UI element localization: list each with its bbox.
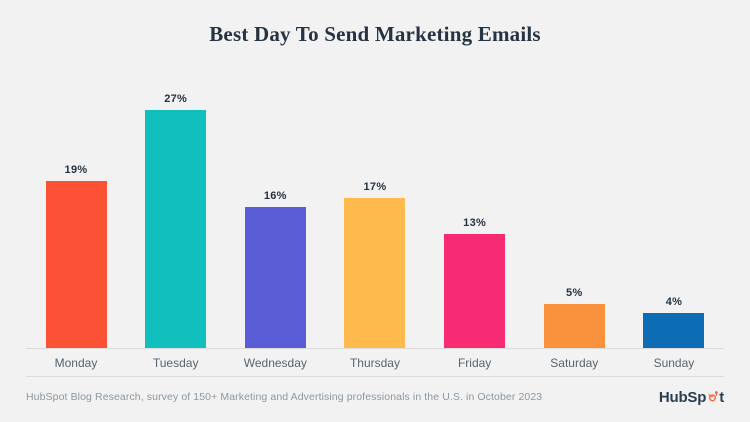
bar-value-label: 4%: [666, 296, 683, 308]
bar-sunday[interactable]: [643, 313, 704, 348]
bar-group: 19% 27% 16% 17% 13% 5%: [26, 62, 724, 348]
bar-value-label: 13%: [463, 217, 486, 229]
chart-plot-area: 19% 27% 16% 17% 13% 5%: [26, 62, 724, 348]
logo-text-suffix: t: [719, 389, 724, 406]
category-label-monday: Monday: [28, 352, 124, 376]
bar-monday[interactable]: [46, 181, 107, 348]
bar-friday[interactable]: [444, 234, 505, 348]
bar-slot-saturday: 5%: [526, 62, 622, 348]
bar-thursday[interactable]: [344, 198, 405, 348]
chart-title: Best Day To Send Marketing Emails: [0, 22, 750, 47]
bar-wednesday[interactable]: [245, 207, 306, 348]
source-note: HubSpot Blog Research, survey of 150+ Ma…: [26, 391, 542, 403]
bar-slot-tuesday: 27%: [128, 62, 224, 348]
bar-slot-friday: 13%: [427, 62, 523, 348]
category-label-friday: Friday: [427, 352, 523, 376]
chart-infographic: Best Day To Send Marketing Emails 19% 27…: [0, 0, 750, 422]
footer: HubSpot Blog Research, survey of 150+ Ma…: [26, 386, 724, 408]
category-label-thursday: Thursday: [327, 352, 423, 376]
category-label-tuesday: Tuesday: [128, 352, 224, 376]
bar-slot-thursday: 17%: [327, 62, 423, 348]
category-label-sunday: Sunday: [626, 352, 722, 376]
bar-value-label: 16%: [264, 190, 287, 202]
hubspot-sprocket-icon: [706, 390, 719, 403]
bar-value-label: 27%: [164, 93, 187, 105]
axis-baseline: [26, 348, 724, 349]
bar-slot-sunday: 4%: [626, 62, 722, 348]
bar-value-label: 17%: [364, 181, 387, 193]
category-label-wednesday: Wednesday: [227, 352, 323, 376]
category-label-saturday: Saturday: [526, 352, 622, 376]
category-axis-labels: Monday Tuesday Wednesday Thursday Friday…: [26, 352, 724, 376]
bar-slot-wednesday: 16%: [227, 62, 323, 348]
footer-divider: [26, 376, 724, 377]
hubspot-logo[interactable]: HubSp t: [659, 389, 724, 406]
bar-saturday[interactable]: [544, 304, 605, 348]
bar-slot-monday: 19%: [28, 62, 124, 348]
bar-tuesday[interactable]: [145, 110, 206, 348]
bar-value-label: 19%: [65, 164, 88, 176]
logo-text-prefix: HubSp: [659, 389, 706, 406]
bar-value-label: 5%: [566, 287, 583, 299]
